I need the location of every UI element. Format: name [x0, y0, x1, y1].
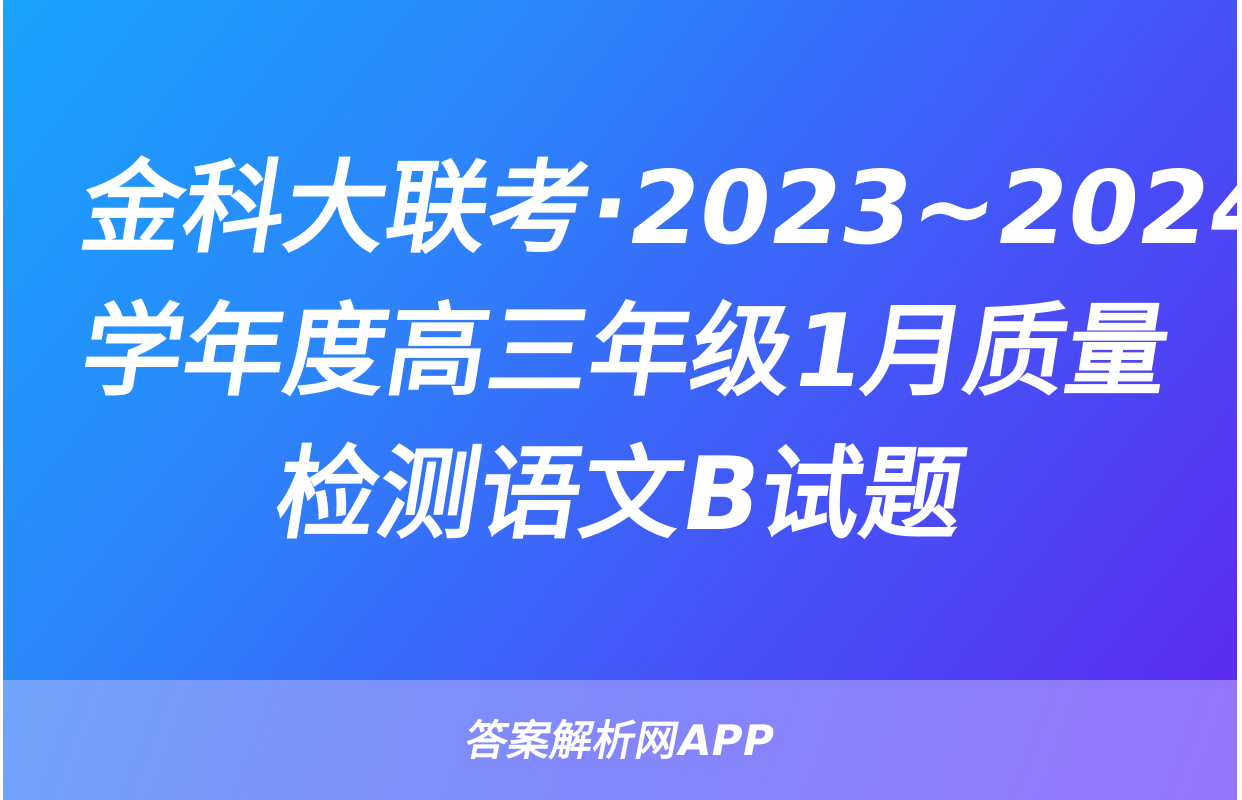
page-title: 金科大联考·2023~2024 学年度高三年级1月质量 检测语文B试题 — [83, 137, 1158, 566]
watermark-text: 答案解析网APP — [461, 718, 778, 764]
exam-cover-card: 金科大联考·2023~2024 学年度高三年级1月质量 检测语文B试题 答案解析… — [0, 0, 1242, 800]
hero-gradient-banner: 金科大联考·2023~2024 学年度高三年级1月质量 检测语文B试题 — [3, 0, 1237, 680]
title-line-1: 金科大联考·2023~2024 — [71, 137, 1169, 280]
footer-watermark-band: 答案解析网APP — [3, 680, 1237, 800]
title-line-3: 检测语文B试题 — [71, 423, 1169, 566]
title-line-2: 学年度高三年级1月质量 — [71, 280, 1169, 423]
